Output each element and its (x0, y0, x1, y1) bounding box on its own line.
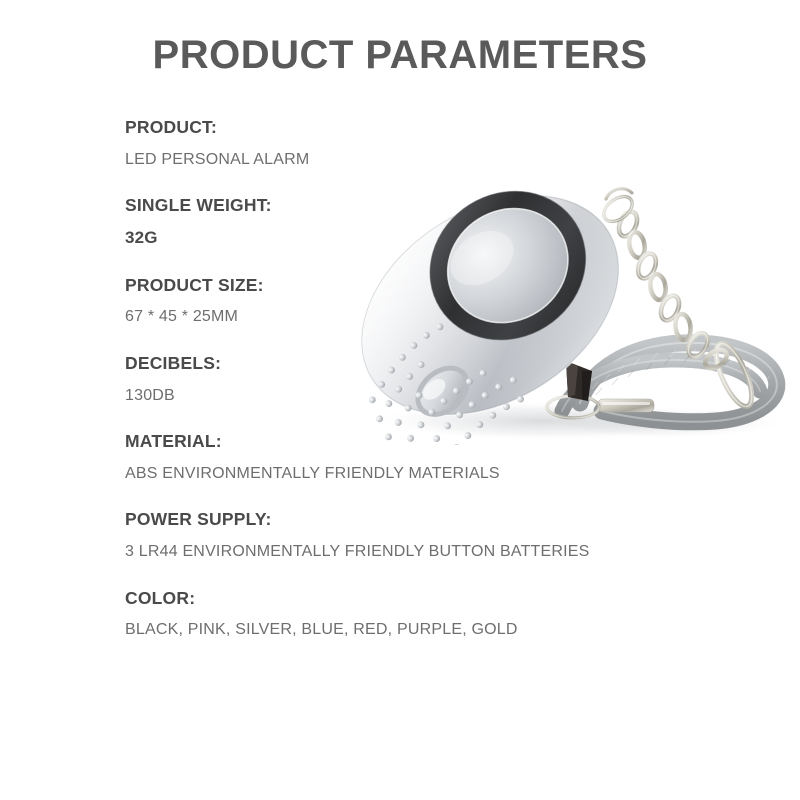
spec-value: 130DB (125, 385, 685, 407)
spec-label: DECIBELS: (125, 352, 685, 376)
spec-value: 67 * 45 * 25MM (125, 306, 685, 328)
spec-label: COLOR: (125, 587, 685, 611)
spec-label: SINGLE WEIGHT: (125, 194, 685, 218)
page-title: PRODUCT PARAMETERS (0, 33, 800, 78)
spec-label: POWER SUPPLY: (125, 508, 685, 532)
spec-value: BLACK, PINK, SILVER, BLUE, RED, PURPLE, … (125, 619, 685, 641)
spec-row: PRODUCT: LED PERSONAL ALARM (125, 116, 685, 170)
spec-value: ABS ENVIRONMENTALLY FRIENDLY MATERIALS (125, 463, 685, 485)
spec-value: LED PERSONAL ALARM (125, 149, 685, 171)
specification-list: PRODUCT: LED PERSONAL ALARM SINGLE WEIGH… (125, 116, 685, 641)
spec-row: PRODUCT SIZE: 67 * 45 * 25MM (125, 274, 685, 328)
spec-row: COLOR: BLACK, PINK, SILVER, BLUE, RED, P… (125, 587, 685, 641)
product-parameters-page: PRODUCT PARAMETERS (0, 0, 800, 800)
spec-value: 32G (125, 227, 685, 250)
spec-label: PRODUCT: (125, 116, 685, 140)
spec-row: DECIBELS: 130DB (125, 352, 685, 406)
spec-row: POWER SUPPLY: 3 LR44 ENVIRONMENTALLY FRI… (125, 508, 685, 562)
spec-label: PRODUCT SIZE: (125, 274, 685, 298)
spec-label: MATERIAL: (125, 430, 685, 454)
spec-row: SINGLE WEIGHT: 32G (125, 194, 685, 250)
spec-row: MATERIAL: ABS ENVIRONMENTALLY FRIENDLY M… (125, 430, 685, 484)
spec-value: 3 LR44 ENVIRONMENTALLY FRIENDLY BUTTON B… (125, 541, 685, 563)
